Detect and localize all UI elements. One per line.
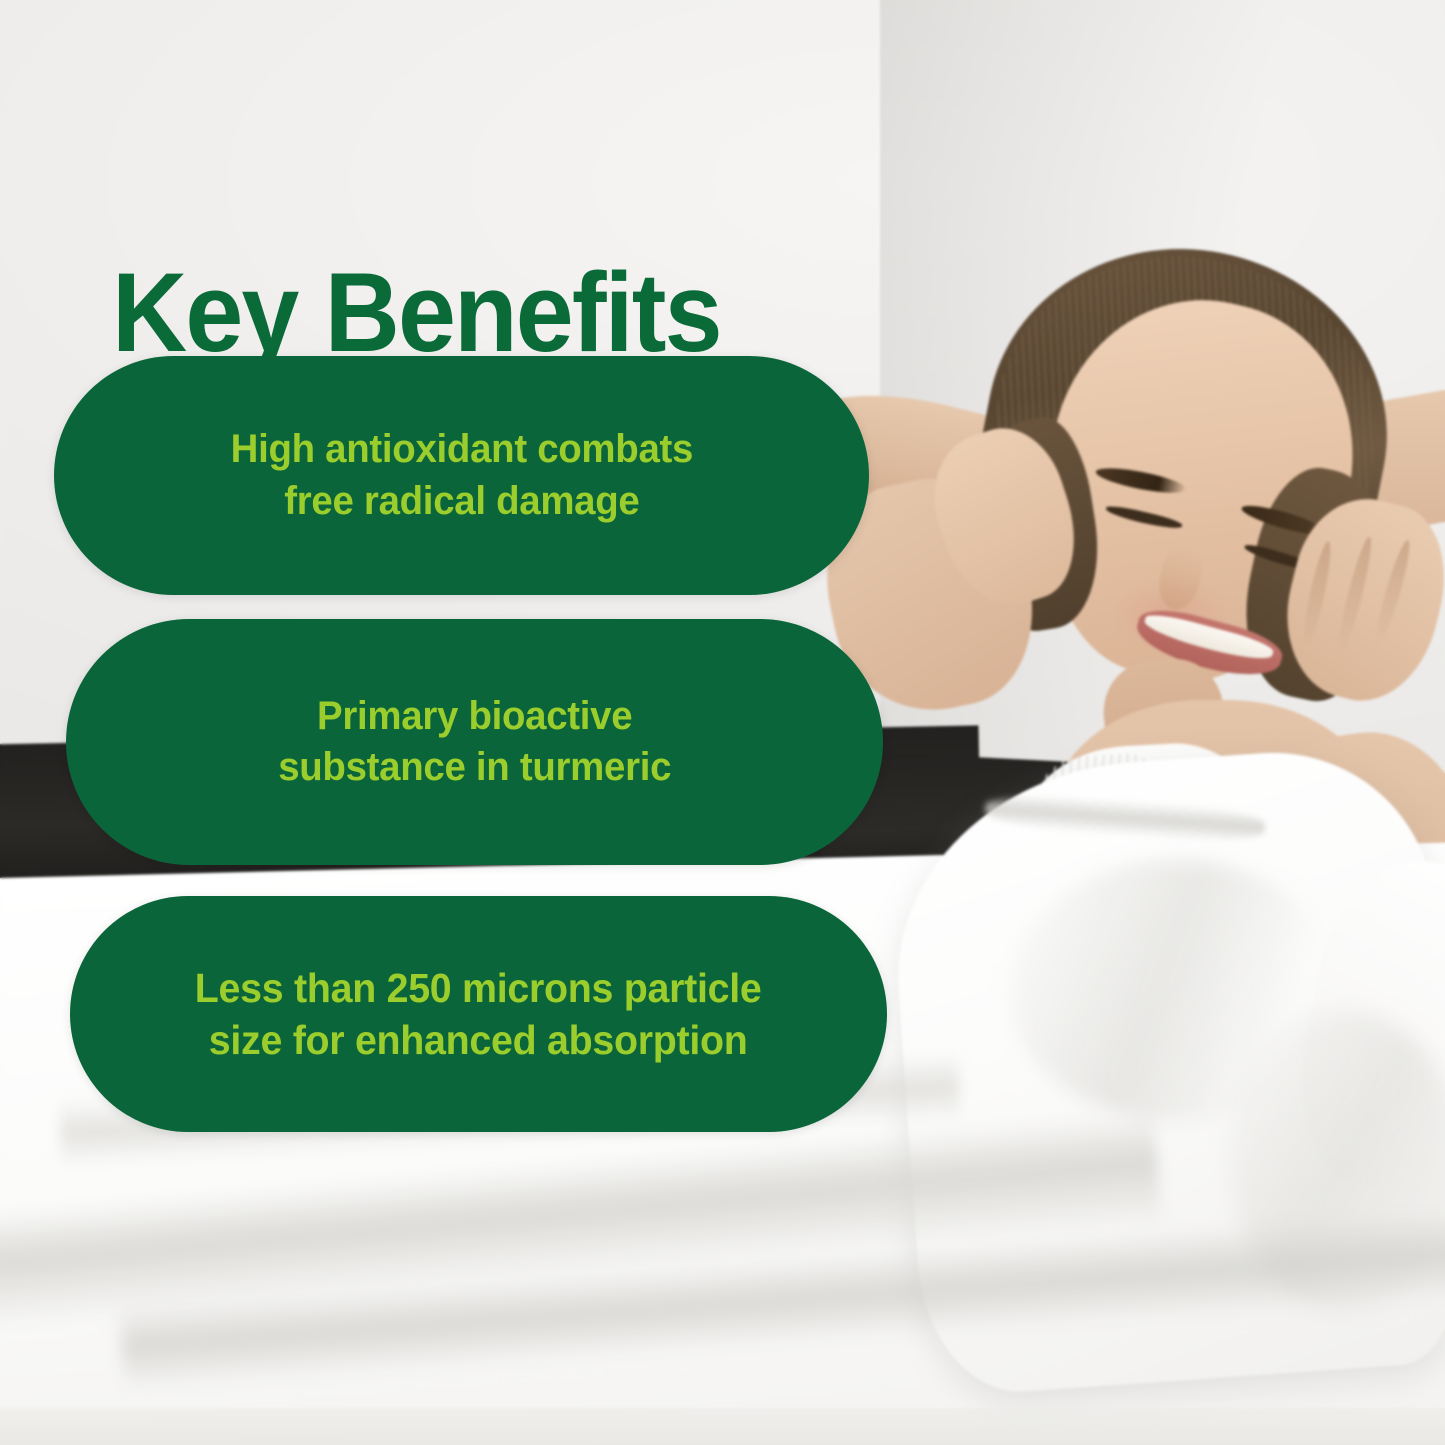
benefit-line-2: size for enhanced absorption <box>209 1017 748 1063</box>
benefit-line-1: Less than 250 microns particle <box>195 965 762 1011</box>
benefit-pill-text: High antioxidant combats free radical da… <box>180 424 742 526</box>
infographic-canvas: Key Benefits High antioxidant combats fr… <box>0 0 1445 1445</box>
benefit-line-2: free radical damage <box>284 479 639 523</box>
benefit-pill-text: Less than 250 microns particle size for … <box>163 962 795 1067</box>
benefit-line-1: Primary bioactive <box>317 694 632 738</box>
benefit-pill-antioxidant: High antioxidant combats free radical da… <box>54 356 869 595</box>
benefit-pill-particle-size: Less than 250 microns particle size for … <box>70 896 887 1132</box>
benefit-line-1: High antioxidant combats <box>230 427 692 471</box>
page-title: Key Benefits <box>112 257 721 369</box>
content-overlay: Key Benefits High antioxidant combats fr… <box>0 0 1445 1445</box>
benefit-pill-text: Primary bioactive substance in turmeric <box>228 691 721 793</box>
benefit-line-2: substance in turmeric <box>278 745 671 789</box>
benefit-pill-bioactive: Primary bioactive substance in turmeric <box>66 619 883 865</box>
